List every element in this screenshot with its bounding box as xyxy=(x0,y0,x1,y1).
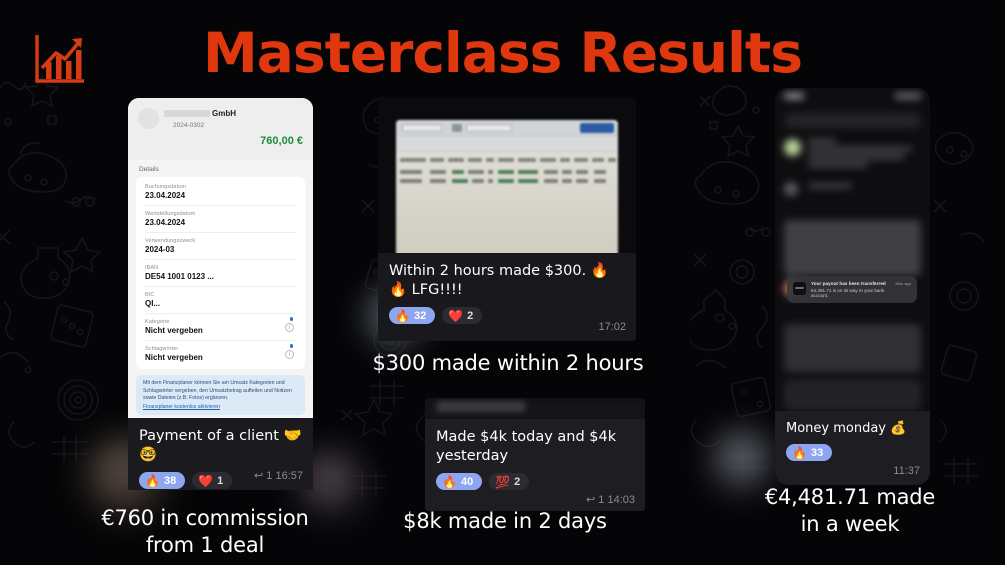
table-row: Buchungsdatum 23.04.2024 xyxy=(145,179,296,206)
row-value: QI... xyxy=(145,299,296,308)
heart-icon: ❤️ xyxy=(198,475,213,487)
doodle-cluster-far-right xyxy=(930,120,1000,520)
table-row: IBAN DE54 1001 0123 ... xyxy=(145,260,296,287)
fire-icon: 🔥 xyxy=(145,475,160,487)
screenshot-card-bank-commission: GmbH 2024-0302 760,00 € Details Buchungs… xyxy=(128,98,313,418)
caption-line-1: €760 in commission xyxy=(35,505,375,532)
reaction-chip-fire[interactable]: 🔥32 xyxy=(389,307,435,324)
reply-count: 1 xyxy=(598,494,604,506)
message-text: Payment of a client 🤝🤓 xyxy=(139,427,302,465)
message-text: Made $4k today and $4k yesterday xyxy=(436,428,634,466)
bank-promo-banner: Mit dem Finanzplaner können Sie am Umsat… xyxy=(136,375,305,415)
laptop-screen-photo xyxy=(396,120,618,256)
reaction-count: 2 xyxy=(467,310,473,322)
redaction-bar xyxy=(164,110,210,117)
fire-icon: 🔥 xyxy=(792,447,807,459)
row-value: Nicht vergeben xyxy=(145,326,296,335)
heart-icon: ❤️ xyxy=(448,310,463,322)
bank-details-box: Buchungsdatum 23.04.2024 Wertstellungsda… xyxy=(136,177,305,369)
reply-count: 1 xyxy=(266,470,272,482)
timestamp: 11:37 xyxy=(893,465,920,477)
reaction-chip-fire[interactable]: 🔥40 xyxy=(436,473,482,490)
reaction-chips: 🔥32 ❤️2 xyxy=(389,307,625,324)
notification-timestamp: 56m ago xyxy=(895,281,911,298)
screenshot-card-8k-two-days: Made $4k today and $4k yesterday 🔥40 💯2 … xyxy=(425,398,645,511)
telegram-message: Payment of a client 🤝🤓 🔥38 ❤️1 ↩ 1 16:57 xyxy=(128,418,313,490)
notification-title: Your payout has been transferred xyxy=(811,281,890,286)
reaction-chip-heart[interactable]: ❤️2 xyxy=(442,307,482,324)
unread-dot xyxy=(290,317,294,321)
row-value: 23.04.2024 xyxy=(145,218,296,227)
redaction-bar xyxy=(437,401,525,412)
bank-payer-name: GmbH xyxy=(164,109,236,118)
bank-amount: 760,00 € xyxy=(260,135,303,147)
table-row: Verwendungszweck 2024-03 xyxy=(145,233,296,260)
info-icon[interactable]: i xyxy=(285,323,294,332)
reaction-count: 33 xyxy=(811,447,823,459)
row-key: Wertstellungsdatum xyxy=(145,211,296,217)
screenshot-card-300-two-hours: Within 2 hours made $300. 🔥🔥 LFG!!!! 🔥32… xyxy=(378,98,636,341)
payout-notification[interactable]: Your payout has been transferred €4,481.… xyxy=(787,276,917,303)
fire-icon: 🔥 xyxy=(395,310,410,322)
row-key: IBAN xyxy=(145,265,296,271)
reaction-count: 40 xyxy=(461,476,473,488)
caption-8k-two-days: $8k made in 2 days xyxy=(380,508,630,535)
header: Masterclass Results xyxy=(0,0,1005,100)
table-row: Schlagwörter Nicht vergeben i xyxy=(145,341,296,367)
caption-line-1: €4,481.71 made xyxy=(700,484,1000,511)
reaction-chip-fire[interactable]: 🔥38 xyxy=(139,472,185,489)
telegram-message: Made $4k today and $4k yesterday 🔥40 💯2 … xyxy=(425,419,645,511)
caption-line-2: from 1 deal xyxy=(35,532,375,559)
activate-finanzplaner-link[interactable]: Finanzplaner kostenlos aktivieren xyxy=(143,404,298,410)
bank-reference-id: 2024-0302 xyxy=(173,122,204,129)
row-value: 2024-03 xyxy=(145,245,296,254)
message-text: Money monday 💰 xyxy=(786,420,919,437)
reaction-count: 1 xyxy=(217,475,223,487)
reaction-chip-fire[interactable]: 🔥33 xyxy=(786,444,832,461)
screen-moire-overlay xyxy=(396,120,618,256)
row-value: DE54 1001 0123 ... xyxy=(145,272,296,281)
row-key: Kategorie xyxy=(145,319,296,325)
bank-transaction-header: GmbH 2024-0302 760,00 € xyxy=(128,98,313,160)
bank-details-label: Details xyxy=(128,160,313,177)
timestamp: 17:02 xyxy=(598,321,626,333)
table-row: Wertstellungsdatum 23.04.2024 xyxy=(145,206,296,233)
row-key: Buchungsdatum xyxy=(145,184,296,190)
caption-line-1: $300 made within 2 hours xyxy=(368,350,648,377)
page-title: Masterclass Results xyxy=(0,21,1005,85)
info-icon[interactable]: i xyxy=(285,350,294,359)
reaction-chips: 🔥40 💯2 xyxy=(436,473,634,490)
list-item[interactable] xyxy=(784,180,921,198)
message-text: Within 2 hours made $300. 🔥🔥 LFG!!!! xyxy=(389,262,625,300)
reaction-count: 32 xyxy=(414,310,426,322)
reaction-count: 38 xyxy=(164,475,176,487)
doodle-cluster-left xyxy=(0,70,120,470)
reaction-count: 2 xyxy=(514,476,520,488)
table-row: BIC QI... xyxy=(145,287,296,314)
notification-body: €4,481.71 is on its way to your bank acc… xyxy=(811,288,890,298)
promo-text: Mit dem Finanzplaner können Sie am Umsat… xyxy=(143,380,298,403)
unread-dot xyxy=(290,344,294,348)
message-bubble-bank: Payment of a client 🤝🤓 🔥38 ❤️1 ↩ 1 16:57 xyxy=(128,418,313,490)
message-meta: ↩ 1 14:03 xyxy=(586,493,635,506)
reaction-chip-heart[interactable]: ❤️1 xyxy=(192,472,232,489)
caption-line-1: $8k made in 2 days xyxy=(380,508,630,535)
fire-icon: 🔥 xyxy=(442,476,457,488)
caption-300-two-hours: $300 made within 2 hours xyxy=(368,350,648,377)
caption-bank-commission: €760 in commission from 1 deal xyxy=(35,505,375,559)
app-icon xyxy=(793,282,806,295)
timestamp: 14:03 xyxy=(607,494,635,506)
telegram-message: Money monday 💰 🔥33 11:37 xyxy=(775,411,930,485)
screen-title-placeholder xyxy=(785,113,920,128)
message-meta: ↩ 1 16:57 xyxy=(254,469,303,482)
timestamp: 16:57 xyxy=(275,470,303,482)
reaction-chips: 🔥33 xyxy=(786,444,919,461)
blurred-header xyxy=(425,401,645,419)
avatar xyxy=(138,108,159,129)
caption-payout-week: €4,481.71 made in a week xyxy=(700,484,1000,538)
telegram-message: Within 2 hours made $300. 🔥🔥 LFG!!!! 🔥32… xyxy=(378,253,636,341)
row-key: Verwendungszweck xyxy=(145,238,296,244)
caption-line-2: in a week xyxy=(700,511,1000,538)
screenshot-card-payout-week: Your payout has been transferred €4,481.… xyxy=(775,88,930,485)
doodle-cluster-right xyxy=(690,80,785,500)
row-key: Schlagwörter xyxy=(145,346,296,352)
row-key: BIC xyxy=(145,292,296,298)
reaction-chip-hundred[interactable]: 💯2 xyxy=(489,473,529,490)
hundred-points-icon: 💯 xyxy=(495,476,510,488)
table-row: Kategorie Nicht vergeben i xyxy=(145,314,296,341)
list-item[interactable] xyxy=(784,137,921,171)
row-value: 23.04.2024 xyxy=(145,191,296,200)
row-value: Nicht vergeben xyxy=(145,353,296,362)
